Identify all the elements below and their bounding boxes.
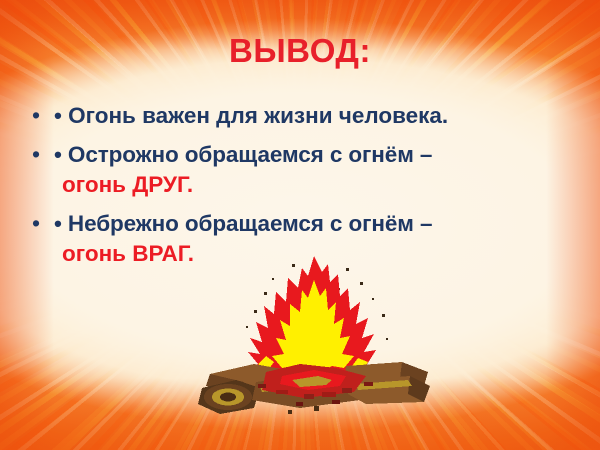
flame-inner-shape <box>272 280 354 372</box>
campfire-illustration <box>196 252 436 424</box>
bullet-marker-icon: • <box>32 100 54 130</box>
list-item-text: • Огонь важен для жизни человека. <box>54 103 448 128</box>
bullet-marker-icon: • <box>32 208 54 238</box>
list-item-text: • Острожно обращаемся с огнём – <box>54 142 432 167</box>
slide-content: ВЫВОД: • • Огонь важен для жизни человек… <box>0 0 600 450</box>
list-item-body: • Острожно обращаемся с огнём – огонь ДР… <box>54 139 532 200</box>
conclusion-bullet-list: • • Огонь важен для жизни человека. • • … <box>32 100 532 277</box>
list-item-body: • Огонь важен для жизни человека. <box>54 100 532 131</box>
list-item-accent-text: огонь ДРУГ. <box>54 172 193 197</box>
bullet-marker-icon: • <box>32 139 54 169</box>
slide-canvas: ВЫВОД: • • Огонь важен для жизни человек… <box>0 0 600 450</box>
list-item-text: • Небрежно обращаемся с огнём – <box>54 211 432 236</box>
list-item: • • Острожно обращаемся с огнём – огонь … <box>32 139 532 200</box>
list-item: • • Огонь важен для жизни человека. <box>32 100 532 131</box>
page-title: ВЫВОД: <box>0 34 600 67</box>
list-item-accent-text: огонь ВРАГ. <box>54 241 194 266</box>
log-left-ring-inner <box>220 393 236 402</box>
